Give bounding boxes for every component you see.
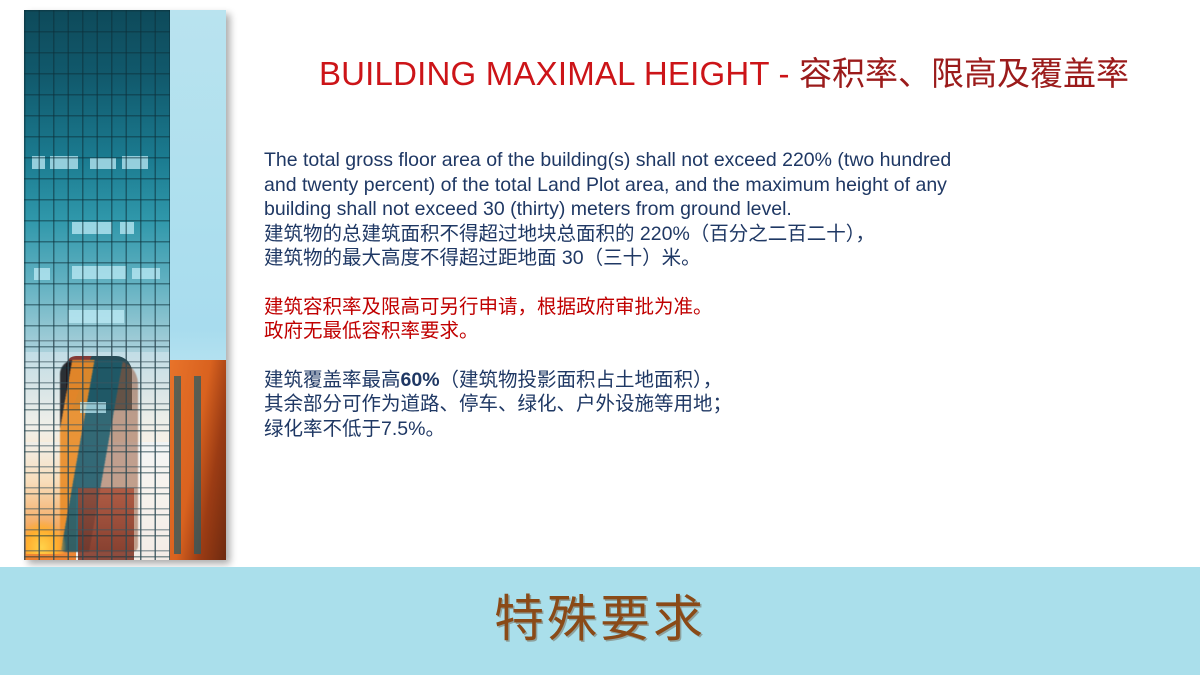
photo-brick-building: [170, 360, 226, 560]
slide-canvas: BUILDING MAXIMAL HEIGHT - 容积率、限高及覆盖率 The…: [0, 0, 1200, 675]
paragraph-spacer: [264, 344, 1184, 368]
body-line: 绿化率不低于7.5%。: [264, 417, 1184, 442]
slide-title-english: BUILDING MAXIMAL HEIGHT -: [319, 55, 799, 92]
photo-window-grid-lower: [24, 340, 170, 560]
paragraph-spacer: [264, 271, 1184, 295]
coverage-ratio-value: 60%: [401, 369, 440, 391]
body-line: 政府无最低容积率要求。: [264, 319, 1184, 344]
slide-title-chinese: 容积率、限高及覆盖率: [799, 57, 1129, 93]
building-photo: [24, 10, 226, 560]
body-line: 建筑物的最大高度不得超过距地面 30（三十）米。: [264, 246, 1184, 271]
body-line-coverage: 建筑覆盖率最高60%（建筑物投影面积占土地面积），: [264, 368, 1184, 393]
body-line: and twenty percent) of the total Land Pl…: [264, 173, 1184, 198]
coverage-line-text: 建筑覆盖率最高60%（建筑物投影面积占土地面积），: [264, 369, 722, 391]
body-line: building shall not exceed 30 (thirty) me…: [264, 197, 1184, 222]
paragraph-far-application-note: 建筑容积率及限高可另行申请，根据政府审批为准。 政府无最低容积率要求。: [264, 295, 1184, 344]
paragraph-english-clause: The total gross floor area of the buildi…: [264, 148, 1184, 222]
bottom-banner: 特殊要求: [0, 567, 1200, 675]
body-line: 建筑容积率及限高可另行申请，根据政府审批为准。: [264, 295, 1184, 320]
slide-title: BUILDING MAXIMAL HEIGHT - 容积率、限高及覆盖率: [264, 54, 1184, 96]
photo-brick-windows: [174, 376, 208, 554]
banner-label: 特殊要求: [0, 589, 1200, 649]
body-line: 建筑物的总建筑面积不得超过地块总面积的 220%（百分之二百二十），: [264, 222, 1184, 247]
photo-glass-tower: [24, 10, 170, 560]
paragraph-chinese-clause: 建筑物的总建筑面积不得超过地块总面积的 220%（百分之二百二十）， 建筑物的最…: [264, 222, 1184, 271]
body-line: 其余部分可作为道路、停车、绿化、户外设施等用地；: [264, 392, 1184, 417]
slide-body: The total gross floor area of the buildi…: [264, 148, 1184, 441]
body-line: The total gross floor area of the buildi…: [264, 148, 1184, 173]
paragraph-coverage-ratio: 建筑覆盖率最高60%（建筑物投影面积占土地面积）， 其余部分可作为道路、停车、绿…: [264, 368, 1184, 442]
photo-image: [24, 10, 226, 560]
